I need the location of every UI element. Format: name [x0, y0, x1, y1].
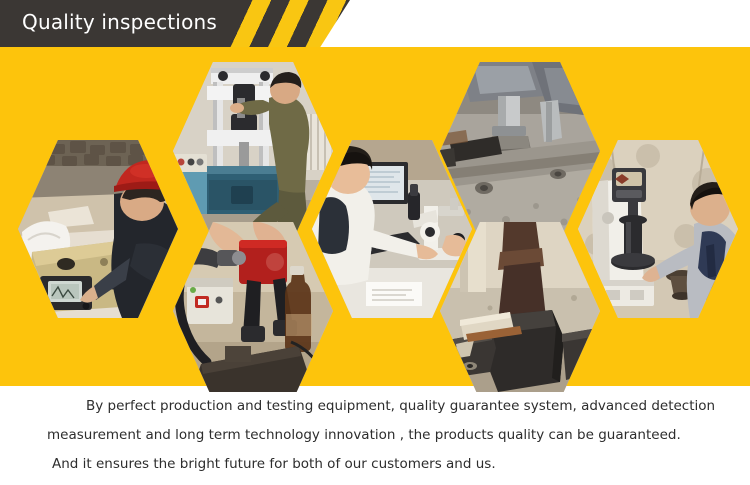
quality-inspections-banner: Quality inspections [0, 0, 750, 485]
caption-line-3: And it ensures the bright future for bot… [52, 458, 496, 472]
hex-universal-testing-machine[interactable] [173, 62, 333, 240]
page-title: Quality inspections [22, 10, 217, 34]
caption-line-1: By perfect production and testing equipm… [86, 400, 715, 414]
caption-block: By perfect production and testing equipm… [0, 392, 750, 485]
yellow-panel [0, 47, 750, 386]
caption-line-2: measurement and long term technology inn… [47, 429, 681, 443]
hex-magnetic-particle-testing[interactable] [173, 222, 333, 400]
photo-vblock-fixture [440, 222, 600, 400]
header-bar: Quality inspections [0, 0, 750, 47]
hex-hardness-tester[interactable] [578, 140, 738, 318]
hex-ultrasonic-inspection[interactable] [18, 140, 178, 318]
photo-hardness-tester [578, 140, 738, 318]
photo-ultrasonic-inspection [18, 140, 178, 318]
photo-magnetic-particle-testing [173, 222, 333, 400]
photo-universal-testing-machine [173, 62, 333, 240]
hex-vblock-fixture[interactable] [440, 222, 600, 400]
